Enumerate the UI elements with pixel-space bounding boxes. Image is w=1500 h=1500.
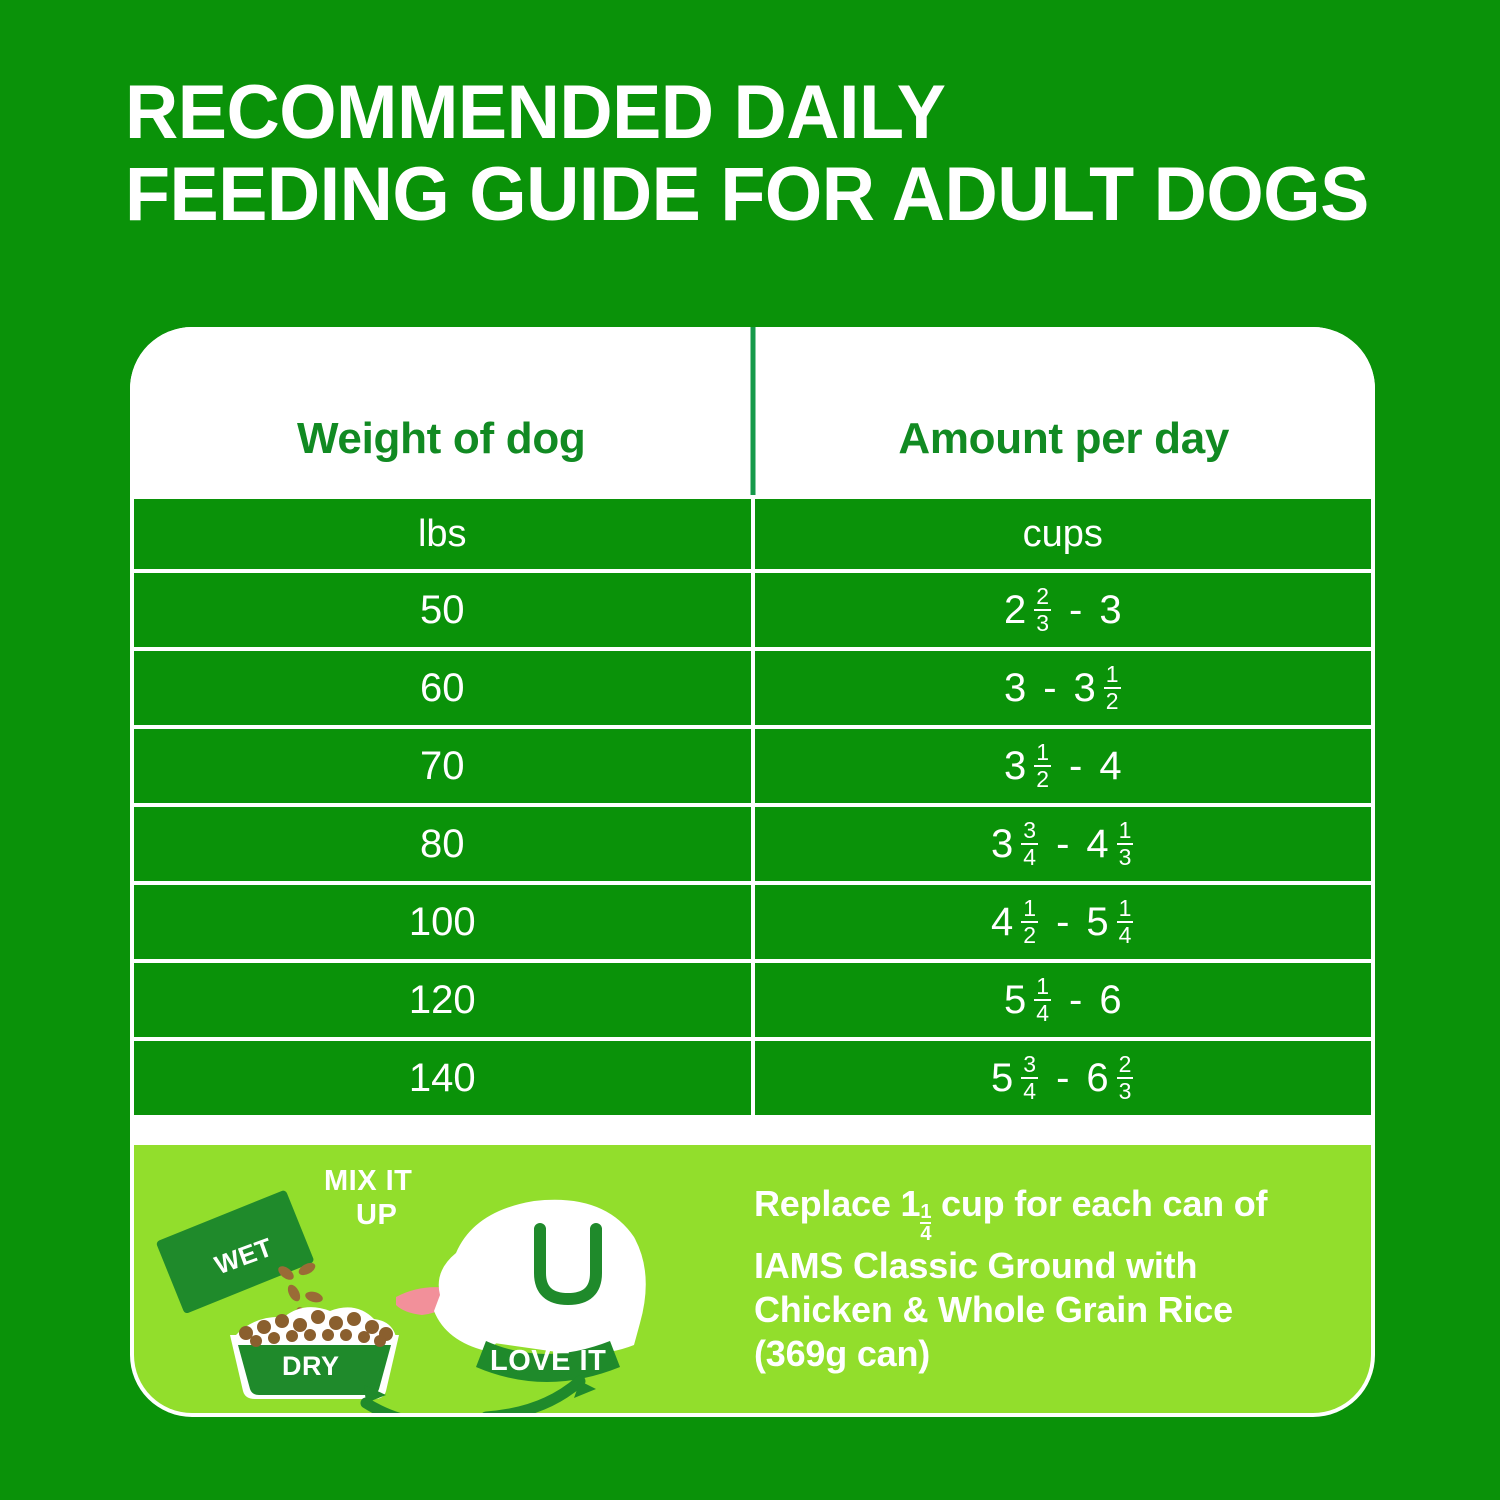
amount-range: 223-3 (1004, 585, 1122, 635)
fraction-denominator: 3 (1117, 1077, 1134, 1103)
love-it-label: LOVE IT (490, 1347, 606, 1376)
fraction-numerator: 2 (1034, 585, 1051, 609)
table-row: 50223-3 (134, 573, 1371, 651)
cell-weight: 80 (134, 807, 751, 881)
fraction: 34 (1021, 1053, 1038, 1103)
fraction-numerator: 1 (1021, 897, 1038, 921)
fraction-numerator: 1 (1104, 663, 1121, 687)
fraction-denominator: 4 (920, 1222, 931, 1244)
page-title: RECOMMENDED DAILY FEEDING GUIDE FOR ADUL… (125, 72, 1444, 236)
range-dash: - (1046, 902, 1079, 942)
fraction: 12 (1034, 741, 1051, 791)
table-row: 80334-413 (134, 807, 1371, 885)
fraction-numerator: 1 (1117, 897, 1134, 921)
range-dash: - (1033, 668, 1066, 708)
table-row: 70312-4 (134, 729, 1371, 807)
cell-amount: 514-6 (755, 963, 1372, 1037)
range-dash: - (1046, 1058, 1079, 1098)
fraction: 34 (1021, 819, 1038, 869)
table-body: lbscups50223-3603-31270312-480334-413100… (134, 495, 1371, 1119)
fraction-denominator: 2 (1034, 765, 1051, 791)
amount-whole: 3 (1004, 746, 1026, 786)
fraction-denominator: 4 (1021, 1077, 1038, 1103)
cell-amount: 534-623 (755, 1041, 1372, 1115)
amount-whole: 3 (1004, 668, 1026, 708)
table-row-units: lbscups (134, 495, 1371, 573)
cell-weight: 120 (134, 963, 751, 1037)
column-header-weight: Weight of dog (130, 327, 753, 495)
amount-range: 534-623 (991, 1053, 1134, 1103)
cell-amount: 223-3 (755, 573, 1372, 647)
amount-whole: 3 (991, 824, 1013, 864)
range-dash: - (1046, 824, 1079, 864)
header-column-divider (750, 327, 755, 495)
amount-whole: 3 (1099, 590, 1121, 630)
table-row: 120514-6 (134, 963, 1371, 1041)
dry-label: DRY (282, 1353, 340, 1380)
cell-amount: 412-514 (755, 885, 1372, 959)
cell-amount: 334-413 (755, 807, 1372, 881)
fraction-denominator: 4 (1021, 843, 1038, 869)
column-header-amount: Amount per day (753, 327, 1376, 495)
range-dash: - (1059, 746, 1092, 786)
cell-weight: 100 (134, 885, 751, 959)
amount-whole: 2 (1004, 590, 1026, 630)
page-title-line-2: FEEDING GUIDE FOR ADULT DOGS (125, 154, 1444, 236)
amount-range: 514-6 (1004, 975, 1122, 1025)
amount-whole: 6 (1099, 980, 1121, 1020)
fraction-numerator: 1 (1117, 819, 1134, 843)
cell-weight: 50 (134, 573, 751, 647)
amount-whole: 3 (1074, 668, 1096, 708)
cell-weight: 140 (134, 1041, 751, 1115)
fraction-denominator: 3 (1117, 843, 1134, 869)
amount-range: 334-413 (991, 819, 1134, 869)
amount-whole: 6 (1086, 1058, 1108, 1098)
fraction-denominator: 2 (1021, 921, 1038, 947)
cell-amount: 3-312 (755, 651, 1372, 725)
dogs-label: DOGS (502, 1313, 589, 1342)
fraction-numerator: 3 (1021, 819, 1038, 843)
fraction-denominator: 4 (1034, 999, 1051, 1025)
fraction: 12 (1104, 663, 1121, 713)
feeding-table-card: Weight of dog Amount per day lbscups5022… (130, 327, 1375, 1417)
amount-whole: 5 (991, 1058, 1013, 1098)
fraction-numerator: 3 (1021, 1053, 1038, 1077)
amount-range: 312-4 (1004, 741, 1122, 791)
fraction-denominator: 3 (1034, 609, 1051, 635)
fraction-denominator: 2 (1104, 687, 1121, 713)
fraction: 14 (1034, 975, 1051, 1025)
fraction-denominator: 4 (1117, 921, 1134, 947)
mix-it-up-illustration: WET DRY MIX IT UP DOGS LOVE IT (134, 1145, 754, 1413)
table-header: Weight of dog Amount per day (130, 327, 1375, 495)
range-dash: - (1059, 590, 1092, 630)
fraction: 12 (1021, 897, 1038, 947)
mix-it-up-banner: WET DRY MIX IT UP DOGS LOVE IT Replace 1… (134, 1145, 1371, 1413)
cell-weight: 70 (134, 729, 751, 803)
amount-whole: 5 (1004, 980, 1026, 1020)
up-label: UP (356, 1201, 397, 1230)
amount-whole: 4 (1086, 824, 1108, 864)
dog-and-bowl-illustration (134, 1145, 754, 1413)
table-body-wrap: lbscups50223-3603-31270312-480334-413100… (130, 495, 1375, 1119)
table-row: 100412-514 (134, 885, 1371, 963)
range-dash: - (1059, 980, 1092, 1020)
fraction-numerator: 1 (920, 1202, 931, 1222)
fraction-numerator: 1 (1034, 741, 1051, 765)
amount-whole: 4 (1099, 746, 1121, 786)
page-title-line-1: RECOMMENDED DAILY (125, 72, 1444, 154)
feeding-guide-page: RECOMMENDED DAILY FEEDING GUIDE FOR ADUL… (0, 0, 1500, 1500)
amount-range: 412-514 (991, 897, 1134, 947)
cell-amount: 312-4 (755, 729, 1372, 803)
replacement-note: Replace 114 cup for each can of IAMS Cla… (754, 1182, 1371, 1376)
replacement-note-fraction: 14 (920, 1202, 931, 1244)
fraction-numerator: 2 (1117, 1053, 1134, 1077)
cell-weight: 60 (134, 651, 751, 725)
arrow-right-icon (486, 1381, 580, 1413)
cell-weight-unit: lbs (134, 499, 751, 569)
table-row: 603-312 (134, 651, 1371, 729)
amount-range: 3-312 (1004, 663, 1122, 713)
fraction: 23 (1034, 585, 1051, 635)
mix-it-label: MIX IT (324, 1167, 412, 1196)
replacement-note-part-1: Replace 1 (754, 1183, 920, 1224)
table-row: 140534-623 (134, 1041, 1371, 1119)
fraction: 23 (1117, 1053, 1134, 1103)
cell-amount-unit: cups (755, 499, 1372, 569)
arrow-left-icon (366, 1403, 474, 1413)
fraction-numerator: 1 (1034, 975, 1051, 999)
fraction: 13 (1117, 819, 1134, 869)
amount-whole: 5 (1086, 902, 1108, 942)
fraction: 14 (1117, 897, 1134, 947)
amount-whole: 4 (991, 902, 1013, 942)
